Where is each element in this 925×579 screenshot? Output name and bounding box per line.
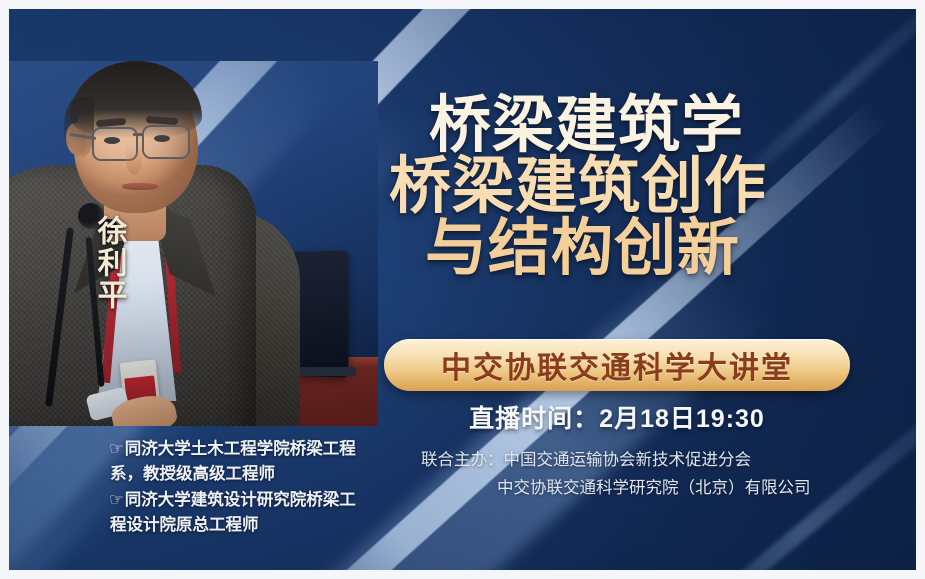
poster-frame: 徐利平 ☞同济大学土木工程学院桥梁工程 系，教授级高级工程师 ☞同济大学建筑设计…: [9, 9, 916, 570]
title-line-1: 桥梁建筑学: [429, 95, 859, 156]
speaker-name: 徐利平: [93, 215, 124, 311]
credential-text: 系，教授级高级工程师: [110, 465, 275, 483]
organizers: 联合主办：中国交通运输协会新技术促进分会 中交协联交通科学研究院（北京）有限公司: [421, 447, 861, 502]
live-time: 直播时间：2月18日19:30: [384, 399, 850, 435]
series-badge-label: 中交协联交通科学大讲堂: [441, 343, 793, 387]
credential-line: 系，教授级高级工程师: [109, 462, 399, 487]
speaker-photo: [9, 61, 378, 426]
organizer-line-2: 中交协联交通科学研究院（北京）有限公司: [421, 475, 861, 503]
title-line-2: 桥梁建筑创作: [389, 156, 859, 217]
photo-shading-overlay: [9, 61, 378, 426]
pointing-hand-icon: ☞: [109, 440, 124, 458]
poster-title: 桥梁建筑学 桥梁建筑创作 与结构创新: [389, 95, 859, 279]
title-line-3: 与结构创新: [425, 218, 859, 279]
pointing-hand-icon: ☞: [109, 491, 124, 509]
poster-root: 徐利平 ☞同济大学土木工程学院桥梁工程 系，教授级高级工程师 ☞同济大学建筑设计…: [0, 0, 925, 579]
credential-line: ☞同济大学建筑设计研究院桥梁工: [109, 488, 399, 513]
organizer-line-1: 联合主办：中国交通运输协会新技术促进分会: [421, 447, 861, 475]
credential-text: 同济大学土木工程学院桥梁工程: [125, 440, 356, 458]
series-badge: 中交协联交通科学大讲堂: [384, 339, 850, 391]
credential-text: 同济大学建筑设计研究院桥梁工: [125, 491, 356, 509]
credential-line: ☞同济大学土木工程学院桥梁工程: [109, 437, 399, 462]
speaker-credentials: ☞同济大学土木工程学院桥梁工程 系，教授级高级工程师 ☞同济大学建筑设计研究院桥…: [109, 437, 399, 539]
credential-line: 程设计院原总工程师: [109, 513, 399, 538]
credential-text: 程设计院原总工程师: [110, 516, 259, 534]
